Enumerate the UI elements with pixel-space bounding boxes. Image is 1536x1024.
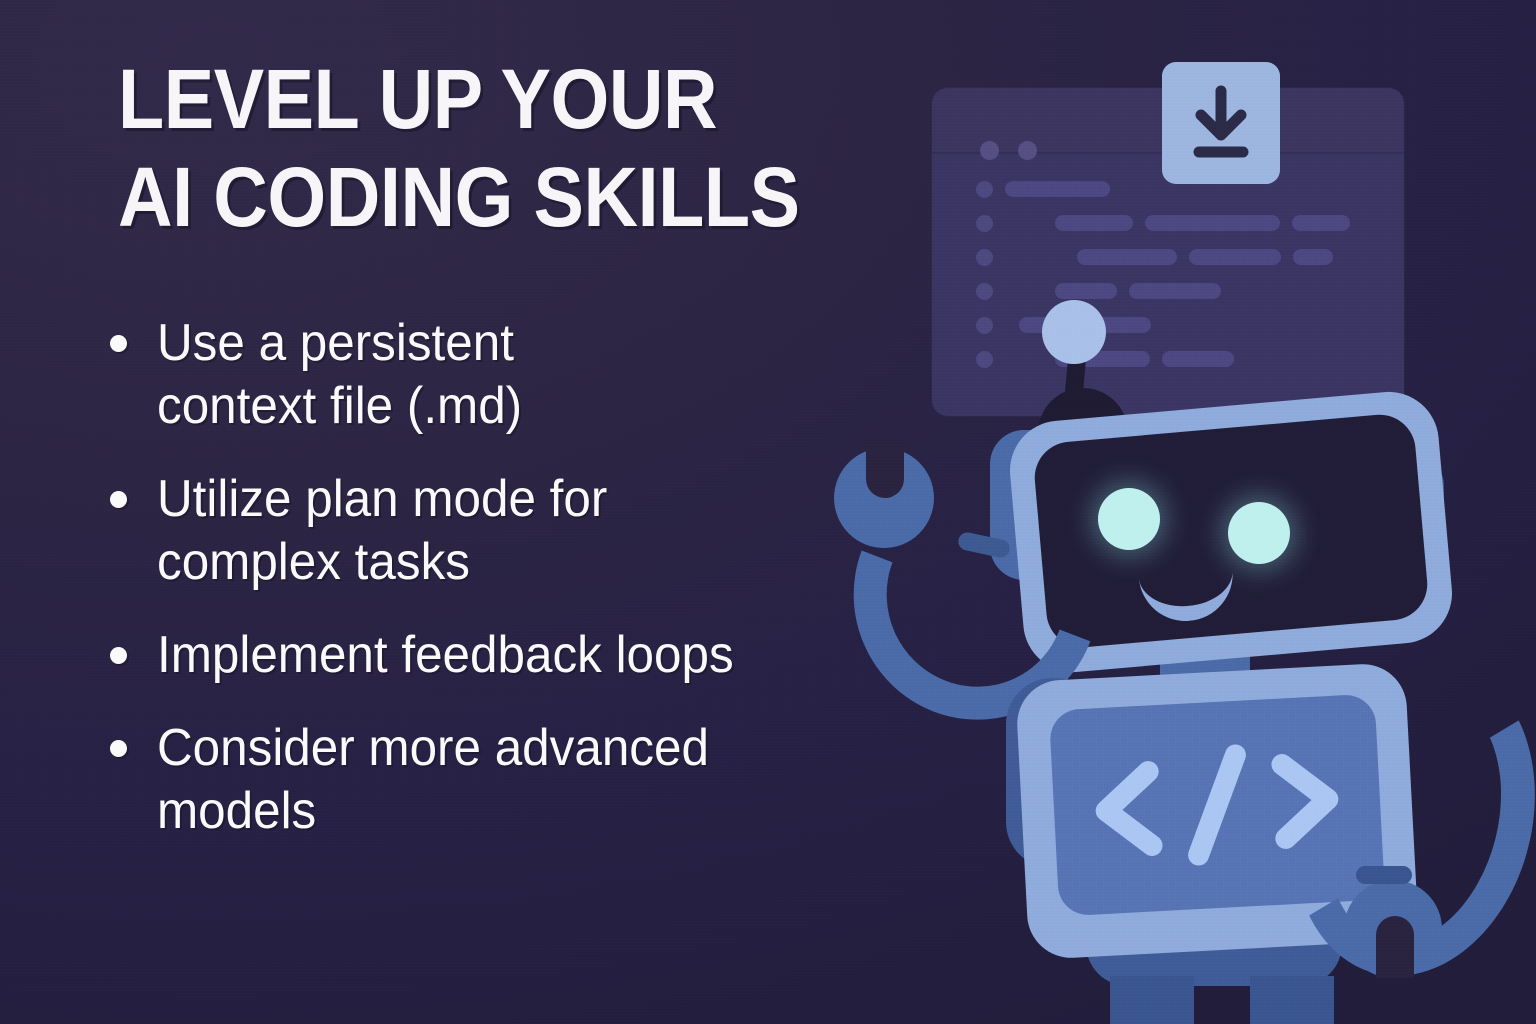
code-bullet-icon xyxy=(976,249,993,266)
robot-leg-left xyxy=(1110,976,1194,1024)
list-item: Utilize plan mode for complex tasks xyxy=(110,468,910,594)
bullet-dot-icon xyxy=(110,491,127,508)
list-item-label: Consider more advanced models xyxy=(157,717,872,843)
code-segment xyxy=(1077,249,1177,265)
page-title: LEVEL UP YOUR AI CODING SKILLS xyxy=(118,50,856,246)
code-line-row xyxy=(932,240,1404,274)
title-line-2: AI CODING SKILLS xyxy=(118,148,856,246)
code-segment xyxy=(1293,249,1333,265)
title-line-1: LEVEL UP YOUR xyxy=(118,50,856,148)
code-segment xyxy=(1189,249,1281,265)
window-dot-icon xyxy=(980,141,999,160)
code-bullet-icon xyxy=(976,181,993,198)
poster-canvas: LEVEL UP YOUR AI CODING SKILLS Use a per… xyxy=(0,0,1536,1024)
bullet-dot-icon xyxy=(110,647,127,664)
code-segment xyxy=(1145,215,1280,231)
bullet-dot-icon xyxy=(110,335,127,352)
list-item-label: Implement feedback loops xyxy=(157,624,734,687)
list-item: Consider more advanced models xyxy=(110,717,910,843)
robot-cuff-right xyxy=(1356,866,1412,884)
window-dot-icon xyxy=(1018,141,1037,160)
list-item-label: Utilize plan mode for complex tasks xyxy=(157,468,765,594)
robot-eye-right xyxy=(1228,502,1290,564)
list-item-label: Use a persistent context file (.md) xyxy=(157,312,651,438)
download-card xyxy=(1162,62,1280,184)
download-icon xyxy=(1184,85,1258,161)
code-segment xyxy=(1005,181,1110,197)
robot-leg-right xyxy=(1250,976,1334,1024)
code-bullet-icon xyxy=(976,215,993,232)
code-line-row xyxy=(932,206,1404,240)
bullet-list: Use a persistent context file (.md) Util… xyxy=(110,312,910,873)
code-segment xyxy=(1055,215,1133,231)
list-item: Use a persistent context file (.md) xyxy=(110,312,910,438)
list-item: Implement feedback loops xyxy=(110,624,910,687)
bullet-dot-icon xyxy=(110,740,127,757)
robot-eye-left xyxy=(1098,488,1160,550)
code-segment xyxy=(1292,215,1350,231)
antenna-ball-icon xyxy=(1042,300,1106,364)
text-column: LEVEL UP YOUR AI CODING SKILLS Use a per… xyxy=(0,0,940,1024)
robot-hand-right-notch xyxy=(1376,916,1414,978)
